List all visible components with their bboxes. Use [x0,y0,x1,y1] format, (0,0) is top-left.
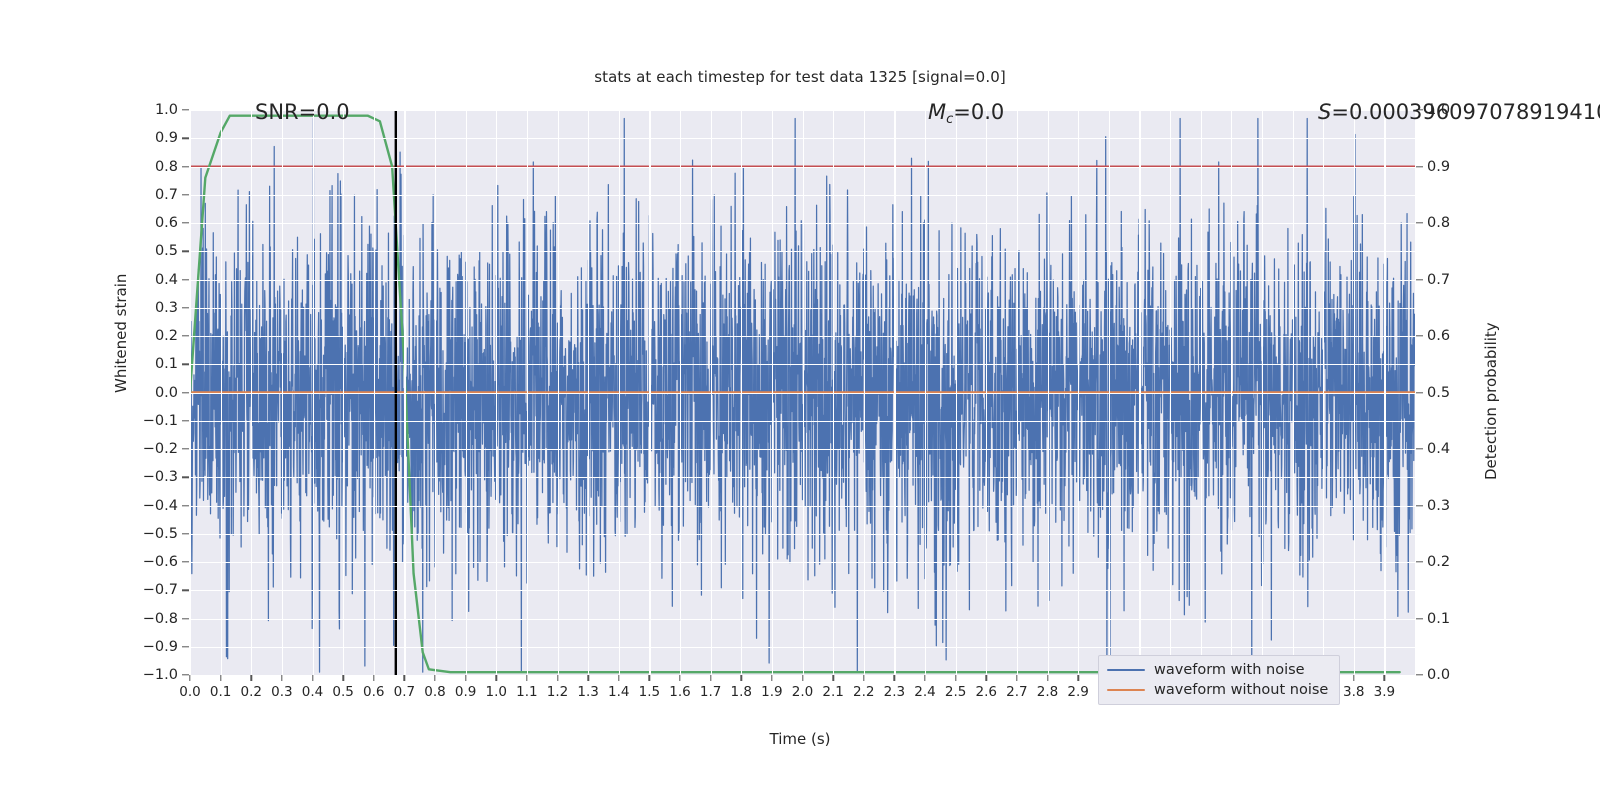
gridline-vertical [1139,110,1140,675]
gridline-vertical [711,110,712,675]
x-tick-mark [220,675,221,681]
gridline-vertical [1201,110,1202,675]
y-tick-mark-left [182,448,189,449]
gridline-vertical [741,110,742,675]
x-tick-mark [526,675,527,681]
x-tick-mark [587,675,588,681]
x-tick-label: 1.4 [608,684,629,700]
x-tick-label: 1.2 [547,684,568,700]
gridline-vertical [282,110,283,675]
y-tick-label-left: 1.0 [155,102,178,118]
gridline-vertical [558,110,559,675]
gridline-vertical [1384,110,1385,675]
x-tick-label: 1.0 [486,684,507,700]
gridline-vertical [772,110,773,675]
gridline-vertical [1048,110,1049,675]
x-tick-mark [1077,675,1078,681]
y-tick-mark-right [1416,166,1423,167]
y-tick-label-right: 0.3 [1427,498,1450,514]
gridline-vertical [894,110,895,675]
legend-swatch-icon [1107,669,1145,671]
x-tick-label: 2.5 [945,684,966,700]
x-tick-mark [649,675,650,681]
y-tick-label-left: 0.7 [155,187,178,203]
y-tick-mark-right [1416,618,1423,619]
x-tick-label: 2.1 [822,684,843,700]
gridline-vertical [680,110,681,675]
y-tick-label-left: −1.0 [143,667,178,683]
annotation-chirp-mass-symbol: M [928,100,946,124]
x-tick-mark [679,675,680,681]
x-tick-label: 1.1 [516,684,537,700]
x-tick-mark [251,675,252,681]
gridline-vertical [803,110,804,675]
y-tick-mark-left [182,194,189,195]
y-tick-mark-right [1416,561,1423,562]
y-tick-mark-right [1416,222,1423,223]
y-tick-label-left: 0.1 [155,356,178,372]
x-tick-mark [342,675,343,681]
y-tick-label-left: −0.1 [143,413,178,429]
y-axis-left-label: Whitened strain [112,274,130,393]
gridline-vertical [588,110,589,675]
annotation-chirp-mass-subscript: c [946,112,953,127]
y-tick-mark-left [182,420,189,421]
gridline-vertical [251,110,252,675]
y-tick-label-left: −0.6 [143,554,178,570]
x-tick-label: 0.0 [179,684,200,700]
x-tick-mark [281,675,282,681]
x-tick-mark [404,675,405,681]
y-tick-mark-left [182,618,189,619]
gridline-vertical [864,110,865,675]
y-tick-mark-right [1416,335,1423,336]
y-tick-label-left: −0.5 [143,526,178,542]
x-tick-mark [955,675,956,681]
y-tick-mark-left [182,505,189,506]
gridline-vertical [466,110,467,675]
y-tick-label-right: 0.8 [1427,215,1450,231]
gridline-vertical [649,110,650,675]
y-axis-right-label: Detection probability [1482,322,1500,480]
x-tick-label: 1.9 [761,684,782,700]
y-tick-label-left: −0.9 [143,639,178,655]
x-tick-mark [373,675,374,681]
x-tick-label: 0.4 [302,684,323,700]
y-tick-label-left: 0.6 [155,215,178,231]
annotation-snr: SNR=0.0 [255,100,350,124]
y-tick-mark-left [182,561,189,562]
gridline-vertical [1354,110,1355,675]
x-axis-label: Time (s) [0,730,1600,748]
y-tick-label-right: 0.6 [1427,328,1450,344]
y-tick-mark-left [182,646,189,647]
y-tick-mark-right [1416,279,1423,280]
y-tick-label-left: 0.9 [155,130,178,146]
gridline-vertical [1323,110,1324,675]
gridline-vertical [496,110,497,675]
gridline-vertical [1262,110,1263,675]
x-tick-label: 2.9 [1067,684,1088,700]
y-tick-label-right: 0.9 [1427,159,1450,175]
x-tick-label: 2.4 [914,684,935,700]
x-tick-label: 2.3 [884,684,905,700]
y-tick-mark-left [182,166,189,167]
x-tick-mark [557,675,558,681]
y-tick-label-left: 0.4 [155,272,178,288]
x-tick-mark [771,675,772,681]
y-tick-mark-left [182,533,189,534]
gridline-vertical [313,110,314,675]
annotation-statistic-value: =0.000396097078919410 [1331,100,1600,124]
x-tick-mark [618,675,619,681]
x-tick-mark [465,675,466,681]
y-tick-mark-left [182,279,189,280]
gridline-vertical [435,110,436,675]
y-tick-mark-right [1416,505,1423,506]
x-tick-mark [312,675,313,681]
y-tick-label-left: 0.3 [155,300,178,316]
x-tick-label: 3.8 [1343,684,1364,700]
x-tick-mark [189,675,190,681]
x-tick-label: 3.9 [1374,684,1395,700]
gridline-vertical [404,110,405,675]
y-tick-label-left: 0.2 [155,328,178,344]
chart-title: stats at each timestep for test data 132… [0,68,1600,86]
legend-swatch-icon [1107,689,1145,691]
y-tick-label-left: 0.8 [155,159,178,175]
x-tick-mark [710,675,711,681]
x-tick-label: 1.7 [700,684,721,700]
legend[interactable]: waveform with noisewaveform without nois… [1098,655,1340,705]
y-tick-label-left: −0.7 [143,582,178,598]
y-tick-label-right: 0.1 [1427,611,1450,627]
x-tick-label: 0.1 [210,684,231,700]
gridline-vertical [374,110,375,675]
x-tick-mark [496,675,497,681]
y-tick-label-left: 0.0 [155,385,178,401]
y-tick-mark-left [182,109,189,110]
gridline-vertical [343,110,344,675]
y-tick-mark-left [182,138,189,139]
gridline-vertical [1078,110,1079,675]
x-tick-label: 0.6 [363,684,384,700]
annotation-chirp-mass-value: =0.0 [953,100,1004,124]
y-tick-label-right: 0.4 [1427,441,1450,457]
x-tick-mark [1353,675,1354,681]
y-tick-label-left: −0.4 [143,498,178,514]
y-tick-mark-left [182,590,189,591]
x-tick-mark [986,675,987,681]
y-tick-mark-left [182,222,189,223]
y-tick-mark-left [182,477,189,478]
y-tick-mark-left [182,674,189,675]
x-tick-label: 2.8 [1037,684,1058,700]
y-tick-mark-right [1416,392,1423,393]
gridline-vertical [956,110,957,675]
y-tick-label-right: 0.0 [1427,667,1450,683]
x-tick-mark [1384,675,1385,681]
y-tick-mark-left [182,307,189,308]
y-tick-label-right: 0.2 [1427,554,1450,570]
x-tick-label: 1.3 [577,684,598,700]
x-tick-mark [832,675,833,681]
gridline-vertical [1109,110,1110,675]
x-tick-label: 2.2 [853,684,874,700]
y-tick-label-right: 0.5 [1427,385,1450,401]
gridline-vertical [1170,110,1171,675]
x-tick-mark [741,675,742,681]
x-tick-label: 0.8 [424,684,445,700]
x-tick-label: 2.7 [1006,684,1027,700]
y-tick-label-left: −0.3 [143,469,178,485]
legend-item[interactable]: waveform without noise [1107,682,1328,698]
x-tick-label: 0.3 [271,684,292,700]
gridline-vertical [986,110,987,675]
y-tick-mark-right [1416,448,1423,449]
gridline-vertical [833,110,834,675]
x-tick-mark [863,675,864,681]
y-tick-mark-right [1416,674,1423,675]
x-tick-mark [1016,675,1017,681]
x-tick-label: 0.7 [394,684,415,700]
x-tick-label: 0.5 [332,684,353,700]
x-tick-mark [924,675,925,681]
x-tick-mark [1047,675,1048,681]
gridline-vertical [190,110,191,675]
annotation-statistic-symbol: S [1318,100,1331,124]
y-tick-mark-left [182,364,189,365]
gridline-vertical [527,110,528,675]
x-tick-mark [894,675,895,681]
plot-area[interactable] [190,110,1415,675]
y-tick-label-left: −0.2 [143,441,178,457]
x-tick-label: 0.2 [241,684,262,700]
x-tick-mark [802,675,803,681]
x-tick-label: 2.0 [792,684,813,700]
figure-canvas: stats at each timestep for test data 132… [0,0,1600,800]
gridline-vertical [1231,110,1232,675]
y-tick-label-left: −0.8 [143,611,178,627]
y-tick-mark-left [182,392,189,393]
x-tick-label: 0.9 [455,684,476,700]
gridline-vertical [1293,110,1294,675]
gridline-vertical [925,110,926,675]
x-tick-label: 2.6 [976,684,997,700]
gridline-vertical [221,110,222,675]
legend-item[interactable]: waveform with noise [1107,662,1328,678]
y-tick-mark-left [182,335,189,336]
x-tick-label: 1.6 [669,684,690,700]
x-tick-label: 1.5 [639,684,660,700]
legend-label: waveform without noise [1154,682,1328,698]
y-tick-label-left: 0.5 [155,243,178,259]
annotation-chirp-mass: Mc=0.0 [928,100,1004,124]
annotation-statistic: S=0.000396097078919410 [1318,100,1600,124]
legend-label: waveform with noise [1154,662,1305,678]
x-tick-mark [434,675,435,681]
x-tick-label: 1.8 [731,684,752,700]
gridline-vertical [619,110,620,675]
gridline-vertical [1017,110,1018,675]
y-tick-mark-left [182,251,189,252]
y-tick-label-right: 0.7 [1427,272,1450,288]
